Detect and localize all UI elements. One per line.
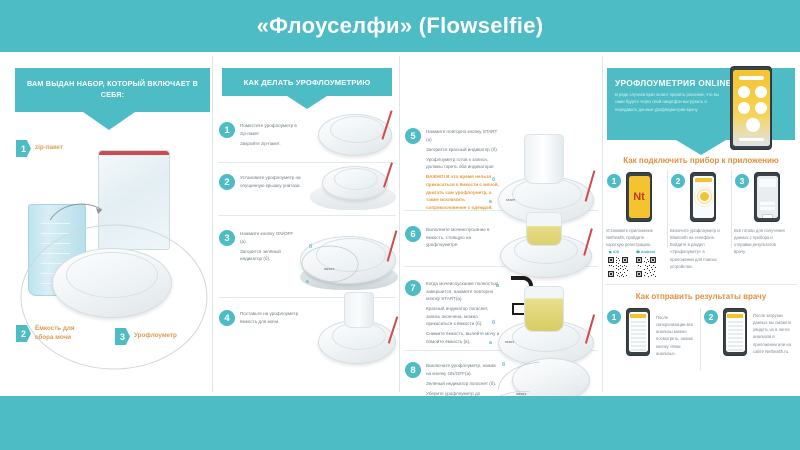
- app-logo-text: Nt: [633, 191, 645, 203]
- step-1-badge: 1: [219, 122, 235, 138]
- step-5-start-button: START: [506, 198, 515, 202]
- kit-item-2: 2 Ёмкость для сбора мочи: [16, 325, 87, 342]
- step-5-cup: [524, 134, 564, 184]
- column2-banner-tip: [287, 96, 327, 109]
- connect-step-3-phone: [754, 172, 780, 222]
- step-8-line-1: Выключите урофлоуметр, нажав на кнопку O…: [426, 362, 498, 377]
- step-6-line-1: Выполните мочеиспускание в ёмкость, стоя…: [426, 226, 502, 249]
- step-7-line-2: Красный индикатор погаснет, запись оконч…: [426, 305, 500, 328]
- android-qr-code[interactable]: [635, 256, 657, 278]
- send-section-divider: [605, 284, 797, 285]
- step-7-cup-with-urine: [524, 286, 564, 332]
- online-title: УРОФЛОУМЕТРИЯ ONLINE: [615, 78, 732, 88]
- connect-section-title: Как подключить прибор к приложению: [605, 156, 797, 165]
- connect-step-3-badge: 3: [735, 174, 749, 188]
- step-5-badge: 5: [405, 128, 421, 144]
- android-icon: [636, 249, 640, 254]
- step-divider-2-2: [218, 215, 396, 216]
- step-6-badge: 6: [405, 226, 421, 242]
- send-step-2-phone: [723, 308, 747, 356]
- online-banner-tip: [676, 140, 726, 155]
- kit-grouping-circle: [18, 222, 210, 372]
- column-divider-3: [602, 56, 603, 392]
- step-8-badge: 8: [405, 362, 421, 378]
- send-step-2-badge: 2: [704, 310, 718, 324]
- connect-step-3-text: Всё готово для получения данных с прибор…: [734, 227, 788, 256]
- hero-phone-mockup: [730, 66, 772, 150]
- ios-store-label: iOS: [613, 250, 619, 254]
- step-7-label-v: в: [496, 283, 499, 289]
- infographic-canvas: ВАМ ВЫДАН НАБОР, КОТОРЫЙ ВКЛЮЧАЕТ В СЕБЯ…: [0, 52, 800, 396]
- kit-item-2-number: 2: [16, 325, 31, 342]
- column2-banner: КАК ДЕЛАТЬ УРОФЛОУМЕТРИЮ: [222, 68, 392, 96]
- step-4-cup: [344, 292, 374, 328]
- connect-step-2-text: Включите урофлоуметр и Bluetooth на теле…: [670, 227, 726, 270]
- connect-step-1-phone: Nt: [626, 172, 652, 222]
- android-store-label: Android: [641, 250, 655, 254]
- step-3-text: Нажмите кнопку ON/OFF (а). Загорится зел…: [240, 230, 300, 265]
- connect-step-2-badge: 2: [671, 174, 685, 188]
- connect-divider-1: [667, 170, 668, 248]
- page-footer: [0, 396, 800, 450]
- step-7-label-b: б: [492, 320, 495, 326]
- send-divider-1: [700, 308, 701, 370]
- send-step-1-badge: 1: [607, 310, 621, 324]
- step-6-text: Выполните мочеиспускание в ёмкость, стоя…: [426, 226, 502, 251]
- step-3-line-1: Нажмите кнопку ON/OFF (а).: [240, 230, 300, 245]
- step-8-line-2: Зелёный индикатор погаснет (б).: [426, 380, 498, 388]
- step-4-badge: 4: [219, 310, 235, 326]
- kit-item-1-number: 1: [16, 140, 31, 157]
- send-step-2-text: После загрузки данных вы сможете увидеть…: [753, 312, 795, 355]
- connect-step-1-text: Установите приложение Nethealth, пройдит…: [606, 227, 658, 248]
- step-1-disc: [330, 116, 384, 143]
- connect-step-1-badge: 1: [607, 174, 621, 188]
- step-5-line-3: Урофлоуметр готов к записи, должны горет…: [426, 156, 504, 171]
- step-3-line-2: Загорится зелёный индикатор (б).: [240, 248, 300, 263]
- step-4-line-1: Поставьте на урофлоуметр ёмкость для моч…: [240, 310, 304, 325]
- step-5-label-b: б: [492, 177, 495, 183]
- step-6-cup-with-urine: [526, 212, 562, 246]
- kit-banner-tip: [83, 112, 135, 130]
- ios-qr-code[interactable]: [607, 256, 629, 278]
- kit-banner: ВАМ ВЫДАН НАБОР, КОТОРЫЙ ВКЛЮЧАЕТ В СЕБЯ…: [15, 68, 210, 112]
- step-divider-2-1: [218, 162, 396, 163]
- kit-item-3: 3 Урофлоуметр: [115, 328, 177, 345]
- column-divider-2: [399, 56, 400, 392]
- step-1-line-1: Поместите урофлоуметр в zip-пакет.: [240, 122, 304, 137]
- kit-item-2-label: Ёмкость для сбора мочи: [35, 325, 87, 342]
- page-title: «Флоуселфи» (Flowselfie): [257, 13, 544, 39]
- apple-icon: [608, 249, 612, 254]
- column-divider-1: [212, 56, 213, 392]
- step-7-start-button: START: [505, 340, 514, 344]
- send-step-1-phone: [626, 308, 650, 356]
- step-7-badge: 7: [405, 280, 421, 296]
- send-step-1-text: После синхронизации все анализы можно по…: [656, 314, 696, 357]
- kit-item-3-number: 3: [115, 328, 130, 345]
- connect-divider-2: [731, 170, 732, 248]
- step-3-label-a: а: [306, 279, 309, 285]
- step-7-text: Когда мочеиспускание полностью завершитс…: [426, 280, 500, 348]
- step-8-label-b: б: [502, 362, 505, 368]
- step-5-label-a: а: [489, 199, 492, 205]
- kit-item-1-label: zip-пакет: [35, 144, 63, 153]
- connect-step-2-phone: [690, 172, 716, 222]
- online-description: В ряде случаев врач может принять решени…: [615, 91, 725, 113]
- kit-item-1: 1 zip-пакет: [16, 140, 63, 157]
- step-2-badge: 2: [219, 174, 235, 190]
- step-1-text: Поместите урофлоуметр в zip-пакет. Закро…: [240, 122, 304, 150]
- step-7-label-a: а: [489, 340, 492, 346]
- step-2-disc: [334, 168, 378, 190]
- step-7-line-1: Когда мочеиспускание полностью завершитс…: [426, 280, 500, 303]
- step-3-badge: 3: [219, 230, 235, 246]
- step-2-line-1: Установите урофлоуметр на опущенную крыш…: [240, 174, 308, 189]
- arrow-to-zipbag: [48, 200, 108, 224]
- step-2-text: Установите урофлоуметр на опущенную крыш…: [240, 174, 308, 192]
- step-3-onoff-button: ON/OFF: [324, 267, 335, 271]
- step-1-line-2: Закройте zip-пакет.: [240, 140, 304, 148]
- step-5-line-2: Загорится красный индикатор (б).: [426, 146, 504, 154]
- step-4-text: Поставьте на урофлоуметр ёмкость для моч…: [240, 310, 304, 328]
- step-3-label-b: б: [309, 244, 312, 250]
- page-header: «Флоуселфи» (Flowselfie): [0, 0, 800, 52]
- kit-item-3-label: Урофлоуметр: [134, 332, 177, 341]
- step-5-line-1: Нажмите повторно кнопку START (а): [426, 128, 504, 143]
- send-section-title: Как отправить результаты врачу: [605, 292, 797, 301]
- step-5-text: Нажмите повторно кнопку START (а) Загори…: [426, 128, 504, 214]
